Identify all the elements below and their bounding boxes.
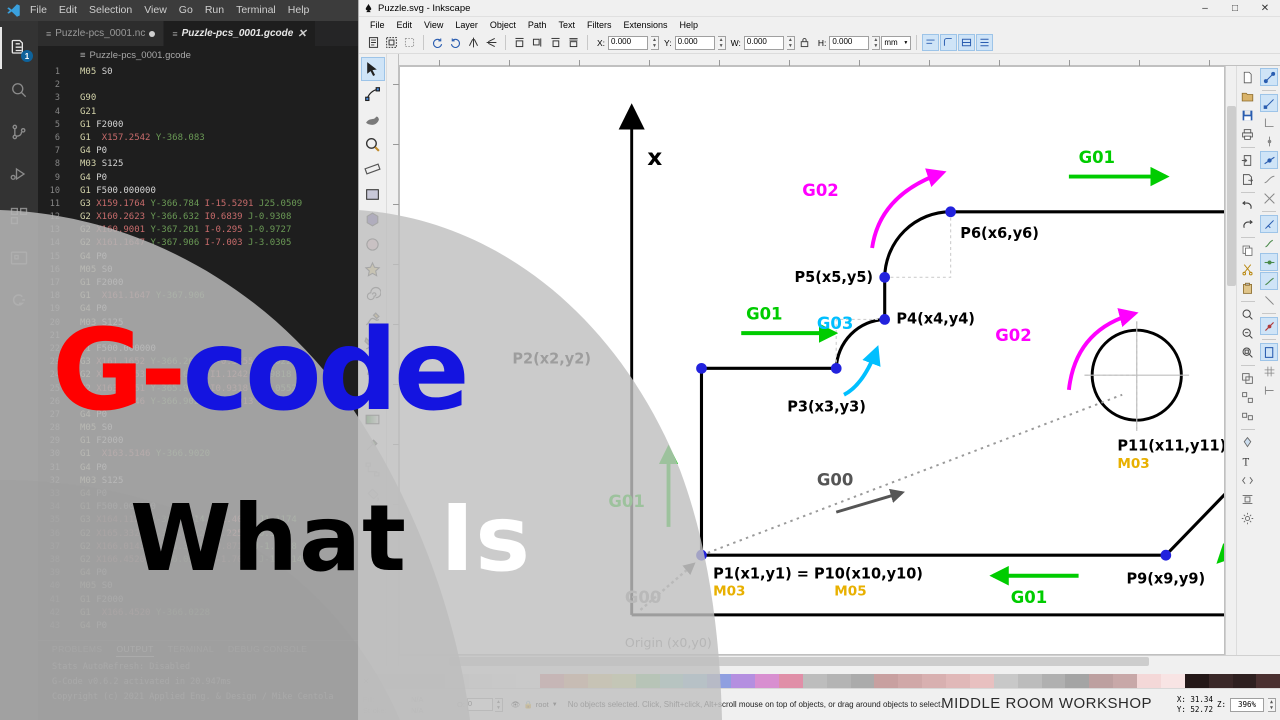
new-document-icon[interactable] (1239, 68, 1257, 86)
code-line: 41G1 F2000 (38, 594, 360, 607)
palette-swatch[interactable] (1042, 674, 1066, 688)
code-line: 2 (38, 79, 360, 92)
code-line: 10G1 F500.000000 (38, 185, 360, 198)
move-g01-diagonal: G01 (1219, 507, 1224, 561)
y-field-group: Y: 0.000 ▲▼ (664, 36, 726, 50)
circle-crosshair (1084, 321, 1189, 431)
snap-bbox-center-icon[interactable] (1260, 272, 1278, 290)
line-number: 4 (38, 106, 66, 119)
line-number: 35 (38, 514, 66, 527)
paste-icon[interactable] (1239, 279, 1257, 297)
node-editor-tool-icon[interactable] (361, 82, 385, 106)
zoom-selection-icon[interactable] (1239, 305, 1257, 323)
x-field-group: X: 0.000 ▲▼ (597, 36, 659, 50)
fill-stroke-dialog-icon[interactable] (1239, 433, 1257, 451)
inkscape-menu-object[interactable]: Object (484, 20, 522, 30)
zoom-spinner[interactable]: ▲▼ (1268, 698, 1276, 712)
output-line: G-Code v0.6.2 activated in 20.947ms (52, 677, 360, 687)
palette-swatch[interactable] (1256, 674, 1280, 688)
line-number: 12 (38, 211, 66, 224)
breadcrumb[interactable]: ≡ Puzzle-pcs_0001.gcode (38, 46, 360, 64)
status-x-label: X: (1177, 695, 1186, 704)
palette-swatch[interactable] (851, 674, 875, 688)
output-line: Copyright (c) 2021 Applied Eng. & Design… (52, 692, 360, 702)
palette-swatch[interactable] (564, 674, 588, 688)
code-line: 30G1 X163.5146 Y-366.9020 (38, 448, 360, 461)
mcode-label-m03-p1: M03 (713, 583, 745, 599)
line-number: 3 (38, 92, 66, 105)
palette-swatch[interactable] (1185, 674, 1209, 688)
line-number: 33 (38, 488, 66, 501)
scrollbar-thumb[interactable] (449, 657, 1149, 666)
line-number: 16 (38, 264, 66, 277)
line-number: 42 (38, 607, 66, 620)
code-text: G1 X161.1647 Y-367.906 (66, 290, 205, 303)
snap-object-center-icon[interactable] (1260, 291, 1278, 309)
line-number: 37 (38, 541, 66, 554)
line-number: 6 (38, 132, 66, 145)
zoom-tool-icon[interactable] (361, 132, 385, 156)
close-icon[interactable]: ✕ (297, 27, 306, 40)
point-label-p6: P6(x6,y6) (960, 225, 1039, 242)
palette-swatch[interactable] (492, 674, 516, 688)
line-number: 15 (38, 251, 66, 264)
panel-tab-problems[interactable]: PROBLEMS (52, 644, 102, 657)
inkscape-menu-extensions[interactable]: Extensions (617, 20, 673, 30)
print-icon[interactable] (1239, 125, 1257, 143)
layer-lock-icon[interactable]: 🔒 (523, 700, 532, 709)
palette-swatch[interactable] (803, 674, 827, 688)
flip-vertical-icon[interactable] (483, 34, 500, 51)
code-line: 43G4 P0 (38, 620, 360, 633)
rotate-ccw-icon[interactable] (429, 34, 446, 51)
code-text: M03 S125 (66, 475, 123, 488)
vscode-menu-file[interactable]: File (24, 0, 53, 21)
lower-to-bottom-icon[interactable] (565, 34, 582, 51)
panel-tab-output[interactable]: OUTPUT (116, 644, 153, 657)
x-spinner[interactable]: ▲▼ (651, 36, 659, 50)
palette-swatch[interactable] (779, 674, 803, 688)
w-label: W: (731, 38, 741, 48)
palette-swatch[interactable] (898, 674, 922, 688)
star-tool-icon[interactable] (361, 257, 385, 281)
line-number: 14 (38, 237, 66, 250)
toolpath-outline (701, 212, 1224, 555)
palette-swatch[interactable] (1209, 674, 1233, 688)
copy-icon[interactable] (1239, 241, 1257, 259)
code-line: 13G2 X160.9001 Y-367.201 I-0.295 J-0.972… (38, 224, 360, 237)
code-text: G4 P0 (66, 488, 107, 501)
line-number: 40 (38, 580, 66, 593)
fill-stroke-labels: Fill: Stroke: (359, 694, 411, 716)
inkscape-snap-bar (1258, 66, 1280, 655)
code-text: G4 P0 (66, 172, 107, 185)
vscode-panel: PROBLEMS OUTPUT TERMINAL DEBUG CONSOLE S… (38, 640, 360, 720)
code-text: G1 X163.5146 Y-366.9020 (66, 448, 210, 461)
remote-explorer-icon[interactable] (0, 237, 38, 279)
inkscape-menu-view[interactable]: View (418, 20, 449, 30)
palette-swatch[interactable] (445, 674, 469, 688)
inkscape-title-bar: Puzzle.svg - Inkscape – □ ✕ (359, 0, 1280, 17)
palette-swatch[interactable] (946, 674, 970, 688)
affect-gradients-icon[interactable] (958, 34, 975, 51)
move-label-g02: G02 (995, 326, 1031, 345)
line-number: 2 (38, 79, 66, 92)
palette-swatch[interactable] (1137, 674, 1161, 688)
line-number: 13 (38, 224, 66, 237)
code-line: 3G90 (38, 92, 360, 105)
w-input[interactable]: 0.000 (744, 36, 784, 50)
palette-swatch[interactable] (922, 674, 946, 688)
channel-watermark: MIDDLE ROOM WORKSHOP (941, 695, 1152, 712)
canvas-horizontal-scrollbar[interactable] (399, 655, 1280, 666)
snap-smooth-nodes-icon[interactable] (1260, 234, 1278, 252)
explorer-badge: 1 (21, 50, 33, 62)
code-line: 31G4 P0 (38, 462, 360, 475)
code-text: G21 (66, 106, 102, 119)
vscode-menu-terminal[interactable]: Terminal (230, 0, 282, 21)
move-label-g00: G00 (625, 588, 661, 607)
move-label-g01: G01 (1079, 148, 1115, 167)
no-color-swatch[interactable]: ✕ (359, 674, 373, 688)
measure-tool-icon[interactable] (361, 157, 385, 181)
opacity-input[interactable]: 0 (467, 698, 493, 711)
palette-swatch[interactable] (1113, 674, 1137, 688)
inkscape-menu-help[interactable]: Help (673, 20, 704, 30)
code-line: 18G1 X161.1647 Y-367.906 (38, 290, 360, 303)
subtitle-part-is: Is (440, 485, 531, 592)
snap-bbox-edge-icon[interactable] (1260, 132, 1278, 150)
line-number: 32 (38, 475, 66, 488)
w-spinner[interactable]: ▲▼ (787, 36, 795, 50)
lock-icon[interactable] (796, 34, 813, 51)
raise-icon[interactable] (529, 34, 546, 51)
tweak-tool-icon[interactable] (361, 107, 385, 131)
stroke-value: N/A (411, 705, 455, 716)
zoom-input[interactable]: 396% (1230, 698, 1264, 712)
code-text: G1 F2000 (66, 119, 123, 132)
move-label-g01: G01 (608, 492, 644, 511)
vscode-logo-icon (2, 2, 24, 20)
window-controls: – □ ✕ (1190, 0, 1280, 17)
select-all-icon[interactable] (365, 34, 382, 51)
file-icon: ≡ (172, 29, 177, 39)
move-g01-bottom: G01 (993, 576, 1078, 607)
code-text: G2 X160.2623 Y-366.632 I0.6839 J-0.9308 (66, 211, 291, 224)
duplicate-icon[interactable] (1239, 369, 1257, 387)
code-text: G4 P0 (66, 620, 107, 633)
lower-icon[interactable] (547, 34, 564, 51)
snap-bbox-corner-icon[interactable] (1260, 113, 1278, 131)
palette-swatch[interactable] (874, 674, 898, 688)
vscode-activity-bar: 1 (0, 21, 38, 720)
code-text: M05 S0 (66, 264, 113, 277)
spiral-tool-icon[interactable] (361, 282, 385, 306)
tab-puzzle-gcode[interactable]: ≡ Puzzle-pcs_0001.gcode ✕ (164, 21, 315, 46)
group-icon[interactable] (1239, 388, 1257, 406)
w-field-group: W: 0.000 ▲▼ (731, 36, 795, 50)
gcode-extension-icon[interactable] (0, 279, 38, 321)
affect-patterns-icon[interactable] (976, 34, 993, 51)
code-line: 29G1 F2000 (38, 435, 360, 448)
extensions-icon[interactable] (0, 195, 38, 237)
palette-swatch[interactable] (660, 674, 684, 688)
line-number: 39 (38, 567, 66, 580)
snap-grid-icon[interactable] (1260, 362, 1278, 380)
move-g01-left: G01 (608, 449, 668, 527)
palette-swatch[interactable] (683, 674, 707, 688)
explorer-icon[interactable]: 1 (0, 27, 38, 69)
canvas-vertical-scrollbar[interactable] (1225, 66, 1236, 655)
code-line: 8M03 S125 (38, 158, 360, 171)
move-label-g02: G02 (802, 181, 838, 200)
code-line: 5G1 F2000 (38, 119, 360, 132)
code-text: G1 F500.000000 (66, 185, 156, 198)
vscode-menu-selection[interactable]: Selection (83, 0, 138, 21)
align-dialog-icon[interactable] (1239, 490, 1257, 508)
point-label-p3: P3(x3,y3) (787, 398, 866, 415)
title-part-g: G- (52, 306, 182, 436)
palette-swatch[interactable] (994, 674, 1018, 688)
vscode-menu-edit[interactable]: Edit (53, 0, 83, 21)
inkscape-menu-path[interactable]: Path (522, 20, 553, 30)
code-text: G1 X157.2542 Y-368.083 (66, 132, 205, 145)
line-number: 8 (38, 158, 66, 171)
move-label-g01: G01 (746, 304, 782, 323)
code-line: 14G2 X161.1647 Y-367.906 I-7.003 J-3.030… (38, 237, 360, 250)
preferences-icon[interactable] (1239, 509, 1257, 527)
code-line: 15G4 P0 (38, 251, 360, 264)
selector-tool-icon[interactable] (361, 57, 385, 81)
code-line: 42G1 X166.4520 Y-366.0228 (38, 607, 360, 620)
snap-guides-icon[interactable] (1260, 381, 1278, 399)
export-icon[interactable] (1239, 170, 1257, 188)
horizontal-ruler (399, 54, 1280, 66)
palette-swatch[interactable] (516, 674, 540, 688)
opacity-spinner[interactable]: ▲▼ (495, 698, 503, 712)
rotate-cw-icon[interactable] (447, 34, 464, 51)
snap-intersections-icon[interactable] (1260, 189, 1278, 207)
affect-rounded-corners-icon[interactable] (940, 34, 957, 51)
code-line: 6G1 X157.2542 Y-368.083 (38, 132, 360, 145)
fill-value: N/A (411, 694, 455, 705)
connector-tool-icon[interactable] (361, 457, 385, 481)
point-label-p4: P4(x4,y4) (896, 310, 975, 327)
move-label-g03: G03 (817, 314, 853, 333)
scrollbar-thumb[interactable] (1227, 106, 1236, 286)
palette-swatch[interactable] (612, 674, 636, 688)
subtitle-part-what: What (130, 485, 440, 592)
vscode-tab-bar: ≡ Puzzle-pcs_0001.nc ≡ Puzzle-pcs_0001.g… (38, 21, 360, 46)
palette-swatch[interactable] (1161, 674, 1185, 688)
tab-label: Puzzle-pcs_0001.gcode (182, 28, 294, 39)
palette-swatch[interactable] (755, 674, 779, 688)
point-label-p5: P5(x5,y5) (794, 269, 873, 286)
vscode-menu-help[interactable]: Help (282, 0, 316, 21)
snap-enable-icon[interactable] (1260, 68, 1278, 86)
h-spinner[interactable]: ▲▼ (872, 36, 880, 50)
chevron-down-icon: ▼ (903, 40, 908, 46)
text-dialog-icon[interactable]: T (1239, 452, 1257, 470)
code-text: G1 F2000 (66, 277, 123, 290)
palette-swatch[interactable] (1018, 674, 1042, 688)
palette-swatch[interactable] (1065, 674, 1089, 688)
run-debug-icon[interactable] (0, 153, 38, 195)
inkscape-menu-edit[interactable]: Edit (391, 20, 419, 30)
status-x-value: 31.34 (1190, 695, 1213, 704)
fill-label: Fill: (363, 694, 411, 705)
point-label-p2: P2(x2,y2) (512, 350, 591, 367)
snap-cusp-nodes-icon[interactable] (1260, 215, 1278, 233)
breadcrumb-label: Puzzle-pcs_0001.gcode (90, 50, 191, 61)
source-control-icon[interactable] (0, 111, 38, 153)
units-value: mm (884, 38, 897, 47)
h-input[interactable]: 0.000 (829, 36, 869, 50)
close-button[interactable]: ✕ (1250, 0, 1280, 17)
palette-swatch[interactable] (970, 674, 994, 688)
undo-icon[interactable] (1239, 196, 1257, 214)
palette-swatch[interactable] (373, 674, 397, 688)
file-icon: ≡ (46, 29, 51, 39)
y-spinner[interactable]: ▲▼ (718, 36, 726, 50)
vscode-menu-view[interactable]: View (138, 0, 173, 21)
palette-swatch[interactable] (421, 674, 445, 688)
code-line: 12G2 X160.2623 Y-366.632 I0.6839 J-0.930… (38, 211, 360, 224)
opacity-control[interactable]: O: 0 ▲▼ (457, 698, 503, 712)
status-y-label: Y: (1177, 705, 1186, 714)
select-all-layers-icon[interactable] (383, 34, 400, 51)
code-text (66, 79, 80, 92)
line-number: 41 (38, 594, 66, 607)
redo-icon[interactable] (1239, 215, 1257, 233)
search-icon[interactable] (0, 69, 38, 111)
tab-puzzle-nc[interactable]: ≡ Puzzle-pcs_0001.nc (38, 21, 164, 46)
layer-indicator[interactable]: 👁 🔒 root ▼ (511, 700, 558, 709)
palette-swatch[interactable] (1089, 674, 1113, 688)
inkscape-menu-layer[interactable]: Layer (449, 20, 484, 30)
h-field-group: H: 0.000 ▲▼ (818, 36, 881, 50)
line-number: 9 (38, 172, 66, 185)
deselect-icon[interactable] (401, 34, 418, 51)
zoom-drawing-icon[interactable] (1239, 324, 1257, 342)
title-part-code: code (182, 306, 465, 436)
save-icon[interactable] (1239, 106, 1257, 124)
layer-visibility-icon[interactable]: 👁 (511, 700, 521, 709)
palette-swatch[interactable] (469, 674, 493, 688)
snap-nodes-icon[interactable] (1260, 151, 1278, 169)
origin-label: Origin (x0,y0) (625, 635, 712, 650)
inkscape-menu-filters[interactable]: Filters (581, 20, 618, 30)
chevron-down-icon[interactable]: ▼ (552, 702, 558, 708)
inkscape-logo-icon (363, 3, 374, 14)
ungroup-icon[interactable] (1239, 407, 1257, 425)
maximize-button[interactable]: □ (1220, 0, 1250, 17)
toolbar-separator (423, 35, 424, 50)
x-input[interactable]: 0.000 (608, 36, 648, 50)
code-line: 11G3 X159.1764 Y-366.784 I-15.5291 J25.0… (38, 198, 360, 211)
tab-label: Puzzle-pcs_0001.nc (55, 28, 145, 39)
code-text: M05 S0 (66, 66, 113, 79)
cursor-coordinates: X: 31.34 Y: 52.72 Z: 396% ▲▼ (1177, 695, 1280, 715)
snap-bbox-icon[interactable] (1260, 94, 1278, 112)
snap-rotation-center-icon[interactable] (1260, 317, 1278, 335)
move-g03: G03 (817, 314, 877, 395)
y-input[interactable]: 0.000 (675, 36, 715, 50)
palette-swatch[interactable] (1233, 674, 1257, 688)
zoom-page-icon[interactable] (1239, 343, 1257, 361)
code-text: G4 P0 (66, 462, 107, 475)
line-number: 29 (38, 435, 66, 448)
palette-swatch[interactable] (540, 674, 564, 688)
code-text: G4 P0 (66, 251, 107, 264)
3dbox-tool-icon[interactable] (361, 207, 385, 231)
move-label-g00: G00 (817, 471, 853, 490)
vscode-menu-run[interactable]: Run (199, 0, 230, 21)
line-number: 34 (38, 501, 66, 514)
import-icon[interactable] (1239, 151, 1257, 169)
units-select[interactable]: mm ▼ (881, 36, 911, 50)
window-title: Puzzle.svg - Inkscape (378, 3, 470, 14)
stroke-label: Stroke: (363, 705, 411, 716)
flip-horizontal-icon[interactable] (465, 34, 482, 51)
palette-swatch[interactable] (731, 674, 755, 688)
code-line: 17G1 F2000 (38, 277, 360, 290)
ellipse-tool-icon[interactable] (361, 232, 385, 256)
open-document-icon[interactable] (1239, 87, 1257, 105)
snap-midpoints-icon[interactable] (1260, 253, 1278, 271)
palette-swatch[interactable] (636, 674, 660, 688)
palette-swatch[interactable] (397, 674, 421, 688)
mcode-label-m03-p11: M03 (1117, 456, 1149, 472)
raise-to-top-icon[interactable] (511, 34, 528, 51)
panel-tab-debug-console[interactable]: DEBUG CONSOLE (228, 644, 307, 657)
inkscape-menu-text[interactable]: Text (552, 20, 581, 30)
rapid-move-path (701, 395, 1122, 555)
line-number: 30 (38, 448, 66, 461)
snap-page-border-icon[interactable] (1260, 343, 1278, 361)
inkscape-menu-bar: File Edit View Layer Object Path Text Fi… (359, 17, 1280, 32)
move-g00-origin: G00 (625, 564, 694, 610)
panel-tab-terminal[interactable]: TERMINAL (168, 644, 214, 657)
palette-swatch[interactable] (588, 674, 612, 688)
line-number: 43 (38, 620, 66, 633)
color-palette[interactable]: ✕ (359, 674, 1280, 688)
code-line: 1M05 S0 (38, 66, 360, 79)
vscode-menu-go[interactable]: Go (173, 0, 199, 21)
x-label: X: (597, 38, 605, 48)
line-number: 1 (38, 66, 66, 79)
svg-text:T: T (1243, 457, 1250, 467)
rectangle-tool-icon[interactable] (361, 182, 385, 206)
layer-name: root (536, 700, 549, 709)
xml-editor-icon[interactable] (1239, 471, 1257, 489)
toolbar-separator (587, 35, 588, 50)
overlay-subtitle-whatis: What Is (130, 493, 531, 585)
affect-stroke-icon[interactable] (922, 34, 939, 51)
minimize-button[interactable]: – (1190, 0, 1220, 17)
palette-swatch[interactable] (827, 674, 851, 688)
cut-icon[interactable] (1239, 260, 1257, 278)
palette-swatch[interactable] (707, 674, 731, 688)
snap-paths-icon[interactable] (1260, 170, 1278, 188)
point-label-p11: P11(x11,y11) (1117, 437, 1224, 454)
point-label-p9: P9(x9,y9) (1127, 571, 1206, 588)
file-icon: ≡ (80, 50, 86, 61)
inkscape-menu-file[interactable]: File (364, 20, 391, 30)
line-number: 18 (38, 290, 66, 303)
code-line: 4G21 (38, 106, 360, 119)
inkscape-window: Puzzle.svg - Inkscape – □ ✕ File Edit Vi… (358, 0, 1280, 720)
